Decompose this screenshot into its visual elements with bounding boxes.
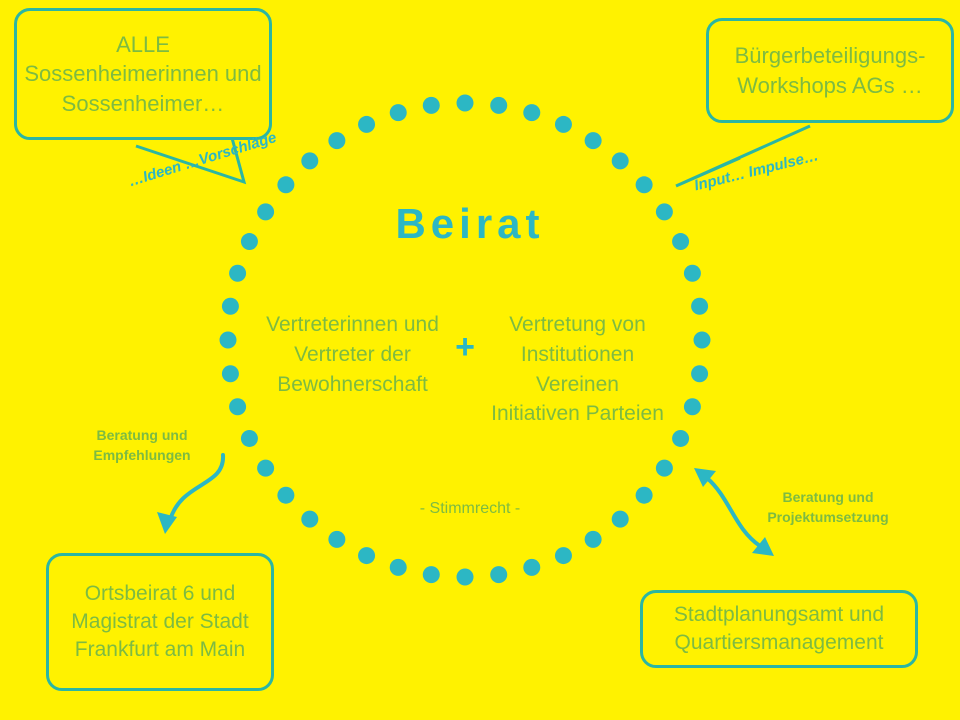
box-stadtplanungsamt-quartiersmanagement-text: Stadtplanungsamt und Quartiersmanagement bbox=[643, 601, 915, 656]
circle-dot bbox=[636, 176, 653, 193]
circle-dot bbox=[694, 332, 711, 349]
circle-dot bbox=[672, 430, 689, 447]
bubble-all-citizens[interactable]: ALLE Sossenheimerinnen und Sossenheimer… bbox=[14, 8, 272, 140]
circle-dot bbox=[229, 265, 246, 282]
circle-dot bbox=[220, 332, 237, 349]
circle-dot bbox=[390, 104, 407, 121]
circle-dot bbox=[490, 566, 507, 583]
circle-dot bbox=[691, 298, 708, 315]
box-ortsbeirat-magistrat-text: Ortsbeirat 6 und Magistrat der Stadt Fra… bbox=[49, 580, 271, 663]
circle-dot bbox=[457, 569, 474, 586]
circle-dot bbox=[358, 547, 375, 564]
circle-dot bbox=[277, 487, 294, 504]
circle-dot bbox=[636, 487, 653, 504]
circle-dot bbox=[656, 203, 673, 220]
arrow-label-beratung-projektumsetzung: Beratung und Projektumsetzung bbox=[748, 487, 908, 528]
circle-dot bbox=[328, 132, 345, 149]
center-column-institutions: Vertretung von Institutionen Vereinen In… bbox=[490, 310, 665, 429]
arrow-to-ortsbeirat-head bbox=[157, 512, 177, 534]
bubble-all-citizens-text: ALLE Sossenheimerinnen und Sossenheimer… bbox=[17, 30, 269, 117]
connector-label-input: Input… Impulse… bbox=[692, 145, 821, 197]
circle-dot bbox=[241, 233, 258, 250]
box-stadtplanungsamt-quartiersmanagement[interactable]: Stadtplanungsamt und Quartiersmanagement bbox=[640, 590, 918, 668]
circle-dot bbox=[423, 97, 440, 114]
circle-dot bbox=[301, 152, 318, 169]
circle-dot bbox=[523, 559, 540, 576]
circle-dot bbox=[277, 176, 294, 193]
circle-dot bbox=[423, 566, 440, 583]
circle-dot bbox=[241, 430, 258, 447]
circle-dot bbox=[301, 511, 318, 528]
circle-dot bbox=[358, 116, 375, 133]
arrow-label-beratung-empfehlungen: Beratung und Empfehlungen bbox=[72, 425, 212, 466]
arrow-to-stadtplanung-head-up bbox=[694, 468, 716, 487]
circle-dot bbox=[612, 511, 629, 528]
center-column-residents: Vertreterinnen und Vertreter der Bewohne… bbox=[265, 310, 440, 399]
circle-dot bbox=[691, 365, 708, 382]
bubble-participation-workshops-text: Bürgerbeteiligungs- Workshops AGs … bbox=[709, 41, 951, 99]
circle-dot bbox=[222, 365, 239, 382]
circle-dot bbox=[585, 132, 602, 149]
circle-dot bbox=[390, 559, 407, 576]
circle-dot bbox=[555, 116, 572, 133]
circle-dot bbox=[229, 398, 246, 415]
circle-dot bbox=[523, 104, 540, 121]
circle-dot bbox=[684, 265, 701, 282]
circle-dot bbox=[656, 460, 673, 477]
box-ortsbeirat-magistrat[interactable]: Ortsbeirat 6 und Magistrat der Stadt Fra… bbox=[46, 553, 274, 691]
circle-dot bbox=[328, 531, 345, 548]
circle-dot bbox=[257, 203, 274, 220]
arrow-to-stadtplanung-head-down bbox=[752, 537, 774, 556]
circle-dot bbox=[684, 398, 701, 415]
circle-dot bbox=[585, 531, 602, 548]
center-title-beirat: Beirat bbox=[330, 200, 610, 248]
circle-dot bbox=[490, 97, 507, 114]
circle-dot bbox=[672, 233, 689, 250]
circle-dot bbox=[257, 460, 274, 477]
bubble-participation-workshops[interactable]: Bürgerbeteiligungs- Workshops AGs … bbox=[706, 18, 954, 123]
circle-dot bbox=[555, 547, 572, 564]
plus-icon: + bbox=[448, 330, 482, 364]
circle-dot bbox=[457, 95, 474, 112]
circle-dot bbox=[222, 298, 239, 315]
diagram-canvas: ALLE Sossenheimerinnen und Sossenheimer…… bbox=[0, 0, 960, 720]
center-footnote-stimmrecht: - Stimmrecht - bbox=[355, 500, 585, 518]
circle-dot bbox=[612, 152, 629, 169]
